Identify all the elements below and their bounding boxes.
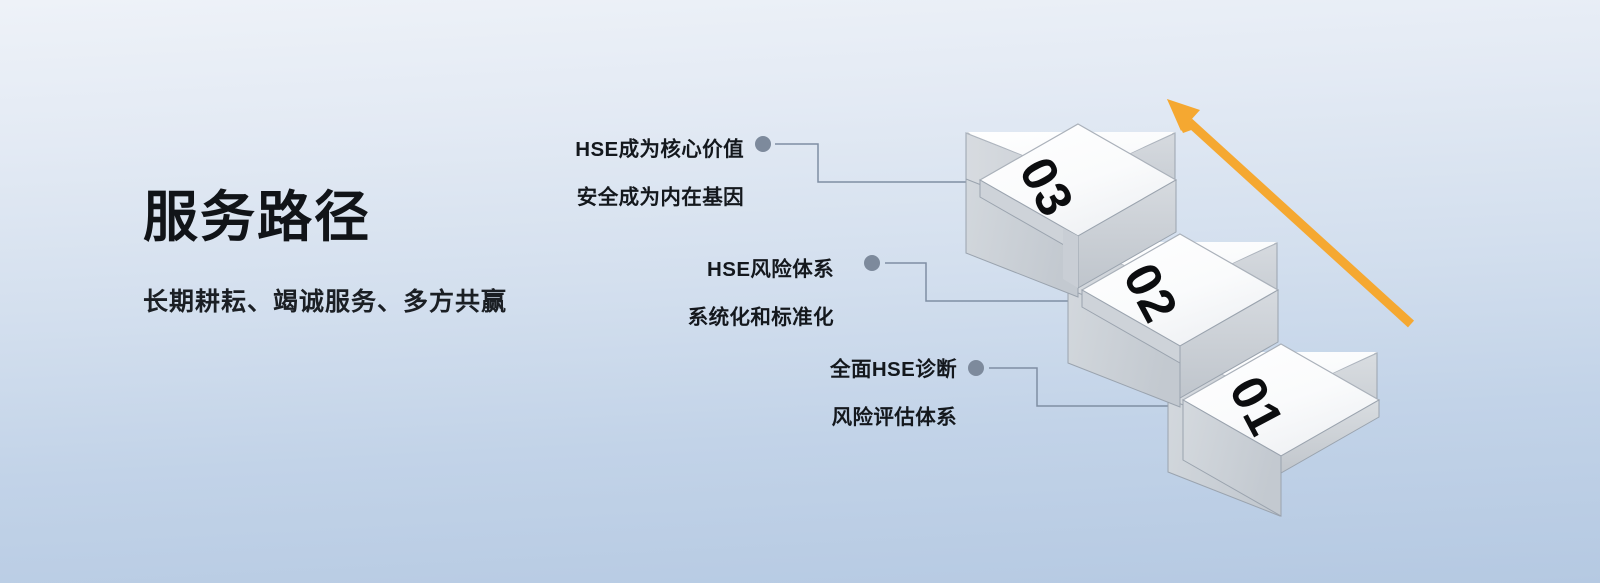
- connector-dot-01: [968, 360, 984, 376]
- connector-dot-03: [755, 136, 771, 152]
- callout-step-02: HSE风险体系 系统化和标准化: [585, 252, 834, 330]
- callout-02-line1: HSE风险体系: [585, 252, 834, 282]
- slab-03-top: [980, 124, 1176, 236]
- slab-02-precise: [1082, 234, 1278, 398]
- slab-01-right-side: [1281, 400, 1379, 473]
- step-03-top-face-b: [967, 132, 1175, 178]
- callout-03-line2: 安全成为内在基因: [462, 180, 744, 210]
- growth-arrow-head-tail: [1167, 99, 1197, 133]
- step-02-right-face: [1180, 243, 1277, 333]
- slab-03-riser: [1063, 228, 1078, 288]
- connector-line-02: [885, 263, 1090, 301]
- callout-step-03: HSE成为核心价值 安全成为内在基因: [462, 132, 744, 210]
- slab-01-precise: [1183, 344, 1379, 516]
- growth-arrow-head: [1167, 99, 1200, 131]
- service-path-infographic: 服务路径 长期耕耘、竭诚服务、多方共赢: [0, 0, 1600, 583]
- page-subtitle: 长期耕耘、竭诚服务、多方共赢: [143, 282, 613, 318]
- callout-02-line2: 系统化和标准化: [585, 300, 834, 330]
- step-number-03: 03: [1011, 150, 1082, 224]
- connector-line-03: [775, 144, 985, 182]
- step-01-right-face: [1280, 353, 1377, 443]
- connector-dot-02: [864, 255, 880, 271]
- callout-03-line1: HSE成为核心价值: [462, 132, 744, 162]
- connector-line-01: [989, 368, 1199, 406]
- callout-01-line1: 全面HSE诊断: [700, 352, 957, 382]
- step-03-right-face: [1078, 133, 1175, 223]
- growth-arrow-shaft: [1189, 122, 1411, 324]
- step-number-02: 02: [1115, 256, 1186, 330]
- callout-01-line2: 风险评估体系: [700, 400, 957, 430]
- step-number-01: 01: [1221, 369, 1292, 443]
- callout-step-01: 全面HSE诊断 风险评估体系: [700, 352, 957, 430]
- step-03-top-face: [966, 133, 1175, 177]
